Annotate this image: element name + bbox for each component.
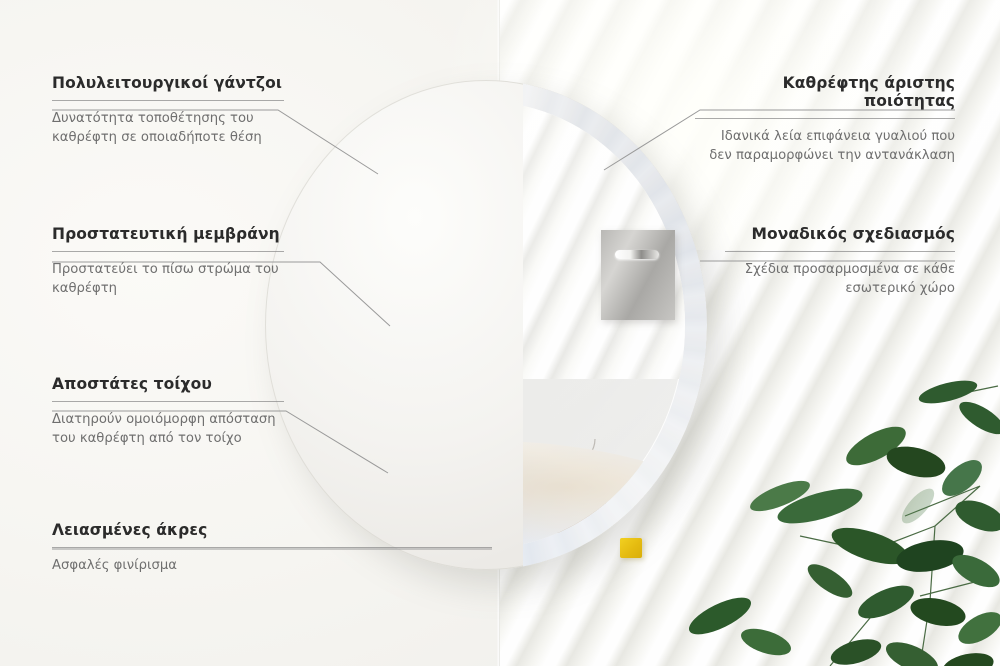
callout-hooks-rule: [52, 100, 284, 101]
callout-quality-rule: [695, 118, 955, 119]
callout-quality-body: Ιδανικά λεία επιφάνεια γυαλιού που δεν π…: [695, 128, 955, 165]
callout-spacers-rule: [52, 401, 284, 402]
callout-edges-body: Ασφαλές φινίρισμα: [52, 557, 492, 576]
infographic-canvas: Πολυλειτουργικοί γάντζοι Δυνατότητα τοπο…: [0, 0, 1000, 666]
callout-hooks: Πολυλειτουργικοί γάντζοι Δυνατότητα τοπο…: [52, 74, 284, 147]
callout-design-rule: [725, 251, 955, 252]
hook-slot: [615, 250, 659, 259]
callout-design-body: Σχέδια προσαρμοσμένα σε κάθε εσωτερικό χ…: [725, 261, 955, 298]
callout-edges: Λειασμένες άκρες Ασφαλές φινίρισμα: [52, 521, 492, 576]
callout-spacers-title: Αποστάτες τοίχου: [52, 375, 284, 393]
product-mirror: [240, 78, 732, 573]
callout-membrane-title: Προστατευτική μεμβράνη: [52, 225, 284, 243]
callout-hooks-title: Πολυλειτουργικοί γάντζοι: [52, 74, 284, 92]
callout-hooks-body: Δυνατότητα τοποθέτησης του καθρέφτη σε ο…: [52, 110, 284, 147]
yellow-spacer: [620, 538, 642, 558]
callout-spacers: Αποστάτες τοίχου Διατηρούν ομοιόμορφη απ…: [52, 375, 284, 448]
callout-design-title: Μοναδικός σχεδιασμός: [725, 225, 955, 243]
hanger-plate: [601, 230, 675, 320]
callout-design: Μοναδικός σχεδιασμός Σχέδια προσαρμοσμέν…: [725, 225, 955, 298]
callout-quality: Καθρέφτης άριστης ποιότητας Ιδανικά λεία…: [695, 74, 955, 165]
callout-membrane: Προστατευτική μεμβράνη Προστατεύει το πί…: [52, 225, 284, 298]
callout-quality-title: Καθρέφτης άριστης ποιότητας: [695, 74, 955, 110]
callout-edges-title: Λειασμένες άκρες: [52, 521, 492, 539]
callout-edges-rule: [52, 547, 492, 548]
callout-spacers-body: Διατηρούν ομοιόμορφη απόσταση του καθρέφ…: [52, 411, 284, 448]
callout-membrane-body: Προστατεύει το πίσω στρώμα του καθρέφτη: [52, 261, 284, 298]
callout-membrane-rule: [52, 251, 284, 252]
